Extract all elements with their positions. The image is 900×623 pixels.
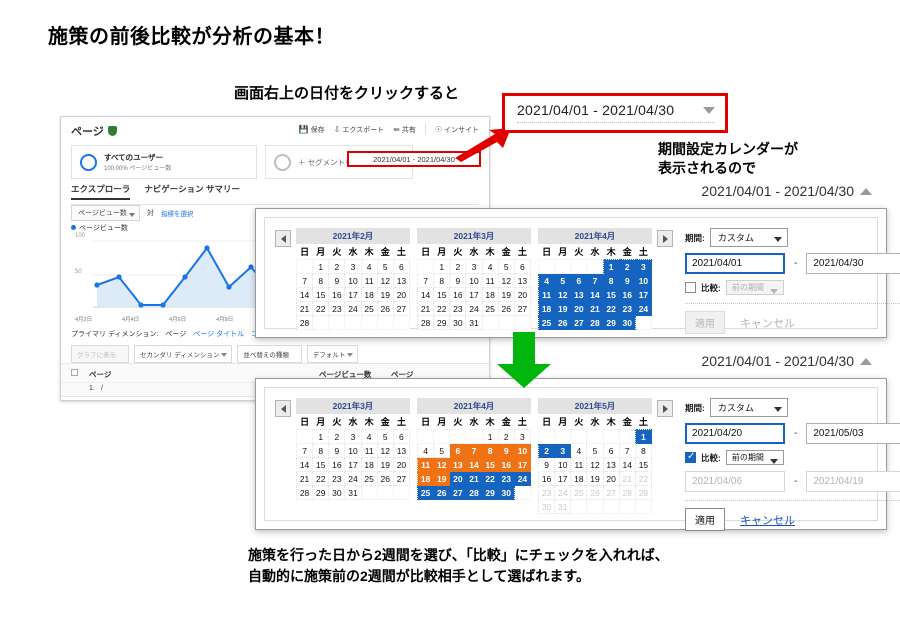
calendar-day-cell[interactable]: 15	[603, 288, 619, 302]
calendar-day-cell[interactable]: 28	[587, 316, 603, 330]
picker2-divider	[685, 500, 900, 501]
row-index: 1.	[89, 385, 95, 392]
calendar-empty-cell	[482, 316, 498, 330]
calendar-day-cell[interactable]: 7	[297, 444, 313, 458]
calendar-day-cell[interactable]: 14	[619, 458, 635, 472]
calendar-empty-cell	[393, 316, 409, 330]
calendar-day-cell[interactable]: 20	[514, 288, 530, 302]
calendar-day-cell[interactable]: 3	[345, 260, 361, 274]
calendar-day-cell[interactable]: 3	[466, 260, 482, 274]
calendar-day-cell[interactable]: 1	[313, 260, 329, 274]
picker1-apply-button[interactable]: 適用	[685, 311, 725, 334]
calendar-day-cell[interactable]: 1	[482, 430, 498, 444]
calendar-day-cell[interactable]: 13	[393, 444, 409, 458]
calendar-empty-cell	[587, 430, 603, 444]
calendar-day-cell[interactable]: 19	[434, 472, 450, 486]
calendar-day-cell[interactable]: 27	[450, 486, 466, 500]
calendar-day-cell[interactable]: 30	[619, 316, 635, 330]
calendar-day-cell[interactable]: 15	[313, 458, 329, 472]
calendar-day-cell[interactable]: 22	[313, 472, 329, 486]
x-tick: 4月2日	[75, 315, 92, 323]
picker2-compare-start-input[interactable]: 2021/04/06	[685, 471, 785, 492]
calendar-day-cell[interactable]: 29	[482, 486, 498, 500]
picker2-end-date-input[interactable]: 2021/05/03	[806, 423, 900, 444]
calendar-day-cell[interactable]: 26	[555, 316, 571, 330]
calendar-day-cell[interactable]: 25	[418, 486, 434, 500]
date-picker-after: 2021/04/01 - 2021/04/30 2021年3月日月火水木金土 1…	[255, 378, 887, 530]
calendar-day-cell[interactable]: 3	[345, 430, 361, 444]
calendar-day-cell[interactable]: 22	[482, 472, 498, 486]
calendar-day-cell[interactable]: 2	[539, 444, 555, 458]
calendar-day-cell[interactable]: 20	[450, 472, 466, 486]
calendar-grid: 日月火水木金土 12345678910111213141516171819202…	[417, 414, 531, 500]
picker1-date-inputs: 2021/04/01 - 2021/04/30	[685, 253, 900, 274]
calendar-empty-cell	[393, 486, 409, 500]
calendar-day-cell[interactable]: 6	[450, 444, 466, 458]
picker2-compare-end-input[interactable]: 2021/04/19	[806, 471, 900, 492]
picker2-compare-mode-select[interactable]: 前の期間	[726, 450, 784, 465]
calendar-day-cell[interactable]: 5	[587, 444, 603, 458]
calendar-day-cell[interactable]: 24	[514, 472, 530, 486]
calendar-day-cell[interactable]: 8	[434, 274, 450, 288]
calendar-day-cell[interactable]: 19	[555, 302, 571, 316]
picker1-compare-mode-select[interactable]: 前の期間	[726, 280, 784, 295]
calendar-day-cell[interactable]: 11	[361, 274, 377, 288]
calendar-day-cell[interactable]: 4	[539, 274, 555, 288]
calendar-day-cell[interactable]: 28	[297, 316, 313, 330]
calendar-day-cell[interactable]: 3	[555, 444, 571, 458]
calendar-weekday: 金	[498, 244, 514, 260]
analytics-tabs: エクスプローラ ナビゲーション サマリー	[71, 183, 479, 205]
calendar-day-cell[interactable]: 30	[498, 486, 514, 500]
calendar-day-cell[interactable]: 4	[361, 430, 377, 444]
calendar-empty-cell	[603, 500, 619, 514]
calendar-grid: 日月火水木金土 12345678910111213141516171819202…	[296, 414, 410, 500]
calendar-day-cell[interactable]: 5	[498, 260, 514, 274]
picker1-months: 2021年2月日月火水木金土 1234567891011121314151617…	[296, 228, 652, 318]
calendar-empty-cell	[450, 430, 466, 444]
calendar-day-cell[interactable]: 10	[345, 444, 361, 458]
calendar-day-cell[interactable]: 7	[297, 274, 313, 288]
calendar-day-cell[interactable]: 3	[514, 430, 530, 444]
calendar-day-cell[interactable]: 21	[587, 302, 603, 316]
picker2-cancel-button[interactable]: キャンセル	[740, 512, 795, 528]
calendar-weekday: 日	[297, 414, 313, 430]
calendar-day-cell[interactable]: 1	[434, 260, 450, 274]
calendar-day-cell[interactable]: 5	[377, 430, 393, 444]
metric-selector[interactable]: ページビュー数	[71, 205, 140, 221]
calendar-day-cell[interactable]: 1	[603, 260, 619, 274]
calendar-day-cell[interactable]: 13	[450, 458, 466, 472]
export-action[interactable]: ⇩エクスポート	[334, 125, 385, 135]
calendar-day-cell[interactable]: 16	[329, 288, 345, 302]
picker2-period-select[interactable]: カスタム	[710, 398, 788, 417]
calendar-day-cell[interactable]: 11	[482, 274, 498, 288]
secondary-dimension-button[interactable]: セカンダリ ディメンション	[134, 345, 232, 363]
calendar-day-cell[interactable]: 28	[619, 486, 635, 500]
caption-calendar-line1: 期間設定カレンダーが	[658, 140, 798, 159]
calendar-day-cell[interactable]: 10	[635, 274, 651, 288]
calendar-day-cell[interactable]: 21	[418, 302, 434, 316]
calendar-day-cell[interactable]: 17	[635, 288, 651, 302]
calendar-day-cell[interactable]: 17	[514, 458, 530, 472]
calendar-day-cell[interactable]: 21	[297, 472, 313, 486]
picker1-next-month-button[interactable]	[657, 230, 673, 247]
calendar-day-cell[interactable]: 23	[329, 302, 345, 316]
calendar-weekday: 日	[539, 244, 555, 260]
segment-all-users[interactable]: すべてのユーザー 100.00% ページビュー数	[71, 145, 257, 179]
column-page[interactable]: ページ	[89, 369, 111, 380]
calendar-weekday: 土	[635, 244, 651, 260]
picker2-start-date-input[interactable]: 2021/04/20	[685, 423, 785, 444]
picker2-actions: 適用 キャンセル	[685, 508, 900, 531]
calendar-empty-cell	[434, 430, 450, 444]
calendar-empty-cell	[418, 260, 434, 274]
calendar-day-cell[interactable]: 6	[514, 260, 530, 274]
calendar-weekday: 月	[313, 244, 329, 260]
calendar-day-cell[interactable]: 25	[482, 302, 498, 316]
picker1-prev-month-button[interactable]	[275, 230, 291, 247]
calendar-day-cell[interactable]: 2	[619, 260, 635, 274]
calendar-day-cell[interactable]: 12	[555, 288, 571, 302]
select-all-checkbox[interactable]	[71, 369, 78, 376]
calendar-day-cell[interactable]: 23	[619, 302, 635, 316]
sort-type-label: 並べ替えの種類	[237, 345, 302, 363]
picker2-compare-checkbox[interactable]	[685, 452, 696, 463]
calendar-day-cell[interactable]: 25	[361, 302, 377, 316]
save-action[interactable]: 💾保存	[299, 125, 325, 135]
calendar-day-cell[interactable]: 6	[603, 444, 619, 458]
calendar-day-cell[interactable]: 1	[635, 430, 651, 444]
calendar-day-cell[interactable]: 25	[539, 316, 555, 330]
picker1-header-range[interactable]: 2021/04/01 - 2021/04/30	[701, 183, 872, 199]
calendar-weekday: 水	[345, 414, 361, 430]
calendar-weekday: 月	[434, 244, 450, 260]
chart-legend: ページビュー数	[71, 223, 128, 233]
calendar-day-cell[interactable]: 22	[434, 302, 450, 316]
calendar-day-cell[interactable]: 28	[418, 316, 434, 330]
y-axis-tick-top: 100	[75, 233, 85, 239]
tab-navigation-summary[interactable]: ナビゲーション サマリー	[144, 183, 240, 200]
calendar-day-cell[interactable]: 23	[539, 486, 555, 500]
calendar-day-cell[interactable]: 1	[313, 430, 329, 444]
calendar-month-title: 2021年4月	[538, 228, 652, 244]
caption-calendar-shown: 期間設定カレンダーが 表示されるので	[658, 140, 798, 178]
calendar-day-cell[interactable]: 27	[603, 486, 619, 500]
calendar-day-cell[interactable]: 8	[482, 444, 498, 458]
calendar-weekday: 火	[450, 414, 466, 430]
callout-date-range-button[interactable]: 2021/04/01 - 2021/04/30	[502, 93, 728, 133]
calendar-weekday: 金	[498, 414, 514, 430]
calendar-day-cell[interactable]: 26	[377, 302, 393, 316]
calendar-day-cell[interactable]: 15	[482, 458, 498, 472]
calendar-day-cell[interactable]: 10	[345, 274, 361, 288]
calendar-day-cell[interactable]: 16	[329, 458, 345, 472]
dimension-page[interactable]: ページ	[165, 329, 186, 339]
picker1-end-date-input[interactable]: 2021/04/30	[806, 253, 900, 274]
calendar-day-cell[interactable]: 23	[450, 302, 466, 316]
calendar-day-cell[interactable]: 6	[393, 430, 409, 444]
picker2-frame: 2021年3月日月火水木金土 1234567891011121314151617…	[264, 387, 878, 521]
share-action[interactable]: ⇚共有	[393, 125, 416, 135]
calendar-day-cell[interactable]: 4	[571, 444, 587, 458]
calendar-day-cell[interactable]: 19	[377, 458, 393, 472]
calendar-empty-cell	[361, 486, 377, 500]
calendar-day-cell[interactable]: 10	[466, 274, 482, 288]
calendar-empty-cell	[297, 260, 313, 274]
calendar-day-cell[interactable]: 4	[482, 260, 498, 274]
calendar-day-cell[interactable]: 30	[450, 316, 466, 330]
calendar-day-cell[interactable]: 18	[361, 288, 377, 302]
calendar-day-cell[interactable]: 7	[466, 444, 482, 458]
calendar-day-cell[interactable]: 20	[571, 302, 587, 316]
calendar-day-cell[interactable]: 30	[539, 500, 555, 514]
calendar-day-cell[interactable]: 31	[555, 500, 571, 514]
calendar-day-cell[interactable]: 26	[434, 486, 450, 500]
calendar-day-cell[interactable]: 13	[393, 274, 409, 288]
calendar-grid: 日月火水木金土 12345678910111213141516171819202…	[296, 244, 410, 330]
segment-all-users-text: すべてのユーザー 100.00% ページビュー数	[104, 152, 171, 172]
calendar-weekday: 日	[539, 414, 555, 430]
picker1-divider	[685, 303, 900, 304]
caption-bottom-line2: 自動的に施策前の2週間が比較相手として選ばれます。	[248, 566, 669, 587]
calendar-day-cell[interactable]: 17	[345, 288, 361, 302]
sort-default-select[interactable]: デフォルト	[307, 345, 359, 363]
picker1-compare-row: 比較: 前の期間	[685, 280, 900, 295]
calendar-empty-cell	[539, 260, 555, 274]
calendar-day-cell[interactable]: 2	[329, 260, 345, 274]
calendar-month-title: 2021年3月	[296, 398, 410, 414]
calendar-day-cell[interactable]: 15	[434, 288, 450, 302]
plot-rows-button[interactable]: グラフに表示	[71, 345, 129, 363]
calendar-day-cell[interactable]: 9	[498, 444, 514, 458]
calendar-day-cell[interactable]: 14	[297, 458, 313, 472]
picker2-apply-button[interactable]: 適用	[685, 508, 725, 531]
picker1-header-range-text: 2021/04/01 - 2021/04/30	[701, 183, 854, 199]
callout-date-range-row[interactable]: 2021/04/01 - 2021/04/30	[517, 102, 715, 123]
calendar-day-cell[interactable]: 30	[329, 486, 345, 500]
picker2-compare-label: 比較:	[701, 452, 721, 464]
calendar-day-cell[interactable]: 13	[603, 458, 619, 472]
calendar-day-cell[interactable]: 29	[635, 486, 651, 500]
calendar-day-cell[interactable]: 22	[603, 302, 619, 316]
calendar-day-cell[interactable]: 8	[313, 274, 329, 288]
calendar-day-cell[interactable]: 19	[587, 472, 603, 486]
calendar-day-cell[interactable]: 13	[571, 288, 587, 302]
calendar-day-cell[interactable]: 17	[466, 288, 482, 302]
calendar-day-cell[interactable]: 29	[434, 316, 450, 330]
metric-select-link[interactable]: 指標を選択	[161, 208, 194, 218]
calendar-month-title: 2021年3月	[417, 228, 531, 244]
calendar-day-cell[interactable]: 28	[297, 486, 313, 500]
calendar-day-cell[interactable]: 23	[498, 472, 514, 486]
calendar-day-cell[interactable]: 2	[450, 260, 466, 274]
red-pointer-arrow	[455, 128, 511, 162]
calendar-weekday: 木	[603, 244, 619, 260]
calendar-day-cell[interactable]: 24	[635, 302, 651, 316]
picker2-date-dash: -	[794, 428, 797, 439]
calendar-day-cell[interactable]: 6	[393, 260, 409, 274]
calendar-day-cell[interactable]: 12	[377, 444, 393, 458]
calendar-day-cell[interactable]: 9	[329, 444, 345, 458]
calendar-day-cell[interactable]: 15	[635, 458, 651, 472]
calendar-day-cell[interactable]: 2	[329, 430, 345, 444]
picker1-actions: 適用 キャンセル	[685, 311, 900, 334]
picker1-start-date-input[interactable]: 2021/04/01	[685, 253, 785, 274]
page-title: 施策の前後比較が分析の基本！	[48, 20, 335, 49]
calendar-day-cell[interactable]: 27	[514, 302, 530, 316]
calendar-day-cell[interactable]: 5	[377, 260, 393, 274]
calendar-day-cell[interactable]: 20	[603, 472, 619, 486]
calendar-day-cell[interactable]: 18	[361, 458, 377, 472]
calendar-day-cell[interactable]: 11	[418, 458, 434, 472]
calendar-day-cell[interactable]: 9	[539, 458, 555, 472]
chevron-down-icon	[703, 107, 715, 114]
calendar-month: 2021年5月日月火水木金土 1234567891011121314151617…	[538, 398, 652, 510]
calendar-day-cell[interactable]: 4	[418, 444, 434, 458]
tab-explorer[interactable]: エクスプローラ	[71, 183, 130, 200]
calendar-day-cell[interactable]: 23	[329, 472, 345, 486]
calendar-day-cell[interactable]: 17	[555, 472, 571, 486]
calendar-empty-cell	[313, 316, 329, 330]
calendar-weekday: 土	[393, 244, 409, 260]
calendar-weekday: 土	[393, 414, 409, 430]
calendar-day-cell[interactable]: 10	[514, 444, 530, 458]
picker1-compare-label: 比較:	[701, 282, 721, 294]
calendar-day-cell[interactable]: 26	[498, 302, 514, 316]
calendar-day-cell[interactable]: 12	[377, 274, 393, 288]
calendar-day-cell[interactable]: 7	[587, 274, 603, 288]
picker1-cancel-button[interactable]: キャンセル	[740, 315, 795, 331]
dimension-page-title[interactable]: ページ タイトル	[193, 329, 244, 339]
calendar-day-cell[interactable]: 12	[587, 458, 603, 472]
save-icon: 💾	[299, 125, 309, 134]
calendar-day-cell[interactable]: 27	[393, 472, 409, 486]
calendar-day-cell[interactable]: 11	[361, 444, 377, 458]
calendar-day-cell[interactable]: 9	[619, 274, 635, 288]
calendar-day-cell[interactable]: 2	[498, 430, 514, 444]
calendar-day-cell[interactable]: 14	[466, 458, 482, 472]
calendar-weekday: 火	[450, 244, 466, 260]
calendar-day-cell[interactable]: 29	[313, 486, 329, 500]
calendar-day-cell[interactable]: 18	[571, 472, 587, 486]
calendar-day-cell[interactable]: 13	[514, 274, 530, 288]
calendar-day-cell[interactable]: 8	[313, 444, 329, 458]
calendar-weekday: 日	[418, 244, 434, 260]
calendar-day-cell[interactable]: 19	[377, 288, 393, 302]
calendar-day-cell[interactable]: 27	[393, 302, 409, 316]
calendar-day-cell[interactable]: 29	[603, 316, 619, 330]
calendar-day-cell[interactable]: 25	[571, 486, 587, 500]
calendar-day-cell[interactable]: 21	[297, 302, 313, 316]
calendar-day-cell[interactable]: 22	[313, 302, 329, 316]
calendar-weekday: 火	[571, 244, 587, 260]
calendar-weekday: 月	[313, 414, 329, 430]
toolbar-divider	[425, 124, 426, 135]
picker2-body: 2021年3月日月火水木金土 1234567891011121314151617…	[275, 398, 867, 510]
calendar-day-cell[interactable]: 18	[482, 288, 498, 302]
chevron-up-icon	[860, 188, 872, 195]
calendar-day-cell[interactable]: 9	[329, 274, 345, 288]
calendar-day-cell[interactable]: 8	[635, 444, 651, 458]
picker1-period-select[interactable]: カスタム	[710, 228, 788, 247]
calendar-weekday: 火	[329, 414, 345, 430]
calendar-day-cell[interactable]: 28	[466, 486, 482, 500]
calendar-day-cell[interactable]: 5	[555, 274, 571, 288]
calendar-day-cell[interactable]: 24	[345, 302, 361, 316]
calendar-day-cell[interactable]: 18	[418, 472, 434, 486]
calendar-weekday: 水	[587, 244, 603, 260]
x-tick: 4月8日	[216, 315, 233, 323]
calendar-month: 2021年2月日月火水木金土 1234567891011121314151617…	[296, 228, 410, 318]
calendar-day-cell[interactable]: 12	[434, 458, 450, 472]
calendar-empty-cell	[555, 260, 571, 274]
calendar-day-cell[interactable]: 25	[361, 472, 377, 486]
calendar-day-cell[interactable]: 3	[635, 260, 651, 274]
calendar-day-cell[interactable]: 12	[498, 274, 514, 288]
calendar-day-cell[interactable]: 20	[393, 288, 409, 302]
calendar-day-cell[interactable]: 11	[571, 458, 587, 472]
calendar-day-cell[interactable]: 5	[434, 444, 450, 458]
calendar-day-cell[interactable]: 15	[313, 288, 329, 302]
picker2-next-month-button[interactable]	[657, 400, 673, 417]
calendar-weekday: 土	[514, 244, 530, 260]
calendar-day-cell[interactable]: 16	[539, 472, 555, 486]
calendar-day-cell[interactable]: 8	[603, 274, 619, 288]
picker2-prev-month-button[interactable]	[275, 400, 291, 417]
calendar-empty-cell	[514, 316, 530, 330]
picker2-controls: 期間: カスタム 2021/04/20 - 2021/05/03 比較: 前の期…	[673, 398, 900, 510]
picker2-header-range[interactable]: 2021/04/01 - 2021/04/30	[701, 353, 872, 369]
calendar-day-cell[interactable]: 27	[571, 316, 587, 330]
calendar-day-cell[interactable]: 22	[635, 472, 651, 486]
date-picker-before: 2021/04/01 - 2021/04/30 2021年2月日月火水木金土 1…	[255, 208, 887, 338]
calendar-day-cell[interactable]: 21	[619, 472, 635, 486]
calendar-day-cell[interactable]: 11	[539, 288, 555, 302]
calendar-day-cell[interactable]: 19	[498, 288, 514, 302]
picker1-compare-checkbox[interactable]	[685, 282, 696, 293]
calendar-day-cell[interactable]: 7	[619, 444, 635, 458]
calendar-weekday: 土	[514, 414, 530, 430]
row-page[interactable]: /	[101, 385, 103, 392]
calendar-day-cell[interactable]: 14	[297, 288, 313, 302]
calendar-day-cell[interactable]: 21	[466, 472, 482, 486]
calendar-day-cell[interactable]: 16	[619, 288, 635, 302]
calendar-day-cell[interactable]: 17	[345, 458, 361, 472]
calendar-day-cell[interactable]: 6	[571, 274, 587, 288]
calendar-day-cell[interactable]: 4	[361, 260, 377, 274]
calendar-day-cell[interactable]: 24	[345, 472, 361, 486]
calendar-day-cell[interactable]: 9	[450, 274, 466, 288]
calendar-day-cell[interactable]: 24	[555, 486, 571, 500]
calendar-day-cell[interactable]: 14	[587, 288, 603, 302]
calendar-day-cell[interactable]: 14	[418, 288, 434, 302]
calendar-day-cell[interactable]: 20	[393, 458, 409, 472]
calendar-day-cell[interactable]: 10	[555, 458, 571, 472]
analytics-toolbar: ページ 💾保存 ⇩エクスポート ⇚共有 ☉インサイト	[61, 117, 489, 143]
calendar-empty-cell	[297, 430, 313, 444]
calendar-day-cell[interactable]: 18	[539, 302, 555, 316]
calendar-weekday: 木	[361, 244, 377, 260]
calendar-day-cell[interactable]: 26	[587, 486, 603, 500]
calendar-day-cell[interactable]: 7	[418, 274, 434, 288]
calendar-day-cell[interactable]: 31	[345, 486, 361, 500]
calendar-day-cell[interactable]: 16	[450, 288, 466, 302]
calendar-day-cell[interactable]: 24	[466, 302, 482, 316]
calendar-day-cell[interactable]: 26	[377, 472, 393, 486]
calendar-day-cell[interactable]: 31	[466, 316, 482, 330]
calendar-day-cell[interactable]: 16	[498, 458, 514, 472]
